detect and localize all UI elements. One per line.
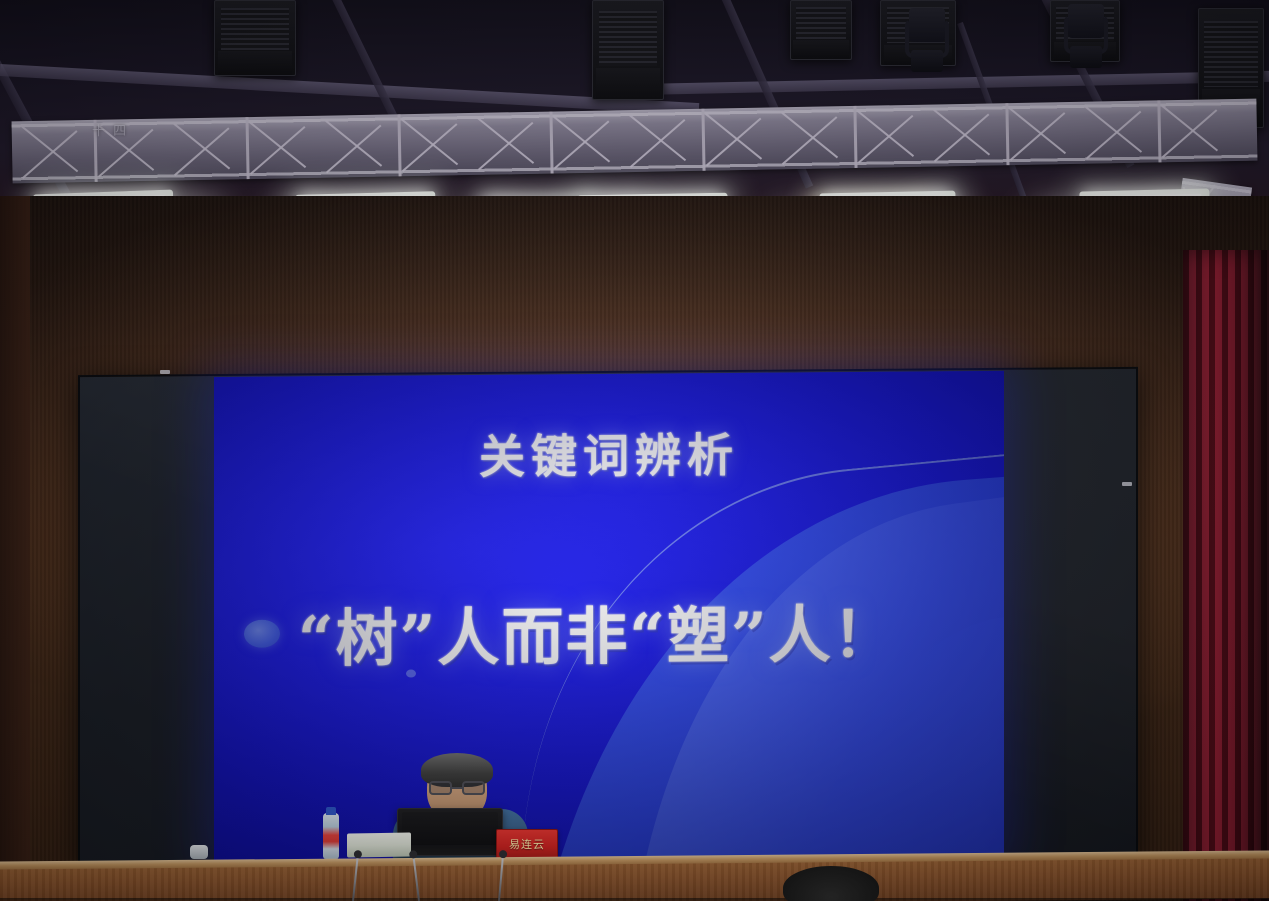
- slide-decoration-dot: [406, 670, 416, 678]
- front-desk: [0, 856, 1269, 901]
- moving-head-light: [905, 8, 949, 72]
- projected-slide: 关键词辨析 “树”人而非“塑”人！: [214, 371, 1004, 865]
- truss-sign-left: 十 四: [92, 120, 128, 139]
- slide-title: 关键词辨析: [214, 417, 1004, 489]
- moving-head-light: [0, 14, 44, 78]
- bullet-icon: [244, 620, 280, 648]
- slide-bullet-row: “树”人而非“塑”人！: [244, 583, 974, 679]
- stage-curtain: [1183, 250, 1269, 901]
- moving-head-light: [1064, 4, 1108, 68]
- line-array-speaker: [790, 0, 852, 60]
- lecture-hall-photo: 十 四 六 零 八: [0, 0, 1269, 901]
- line-array-speaker: [214, 0, 296, 76]
- water-bottle: [323, 813, 339, 859]
- screen-hook: [1122, 482, 1132, 486]
- left-wall-edge: [0, 196, 30, 901]
- laptop: [397, 808, 503, 856]
- glasses-icon: [429, 781, 485, 795]
- screen-hook: [160, 370, 170, 374]
- line-array-speaker: [592, 0, 664, 100]
- slide-bullet-text: “树”人而非“塑”人！: [298, 584, 897, 679]
- nameplate-text: 易连云: [509, 836, 545, 852]
